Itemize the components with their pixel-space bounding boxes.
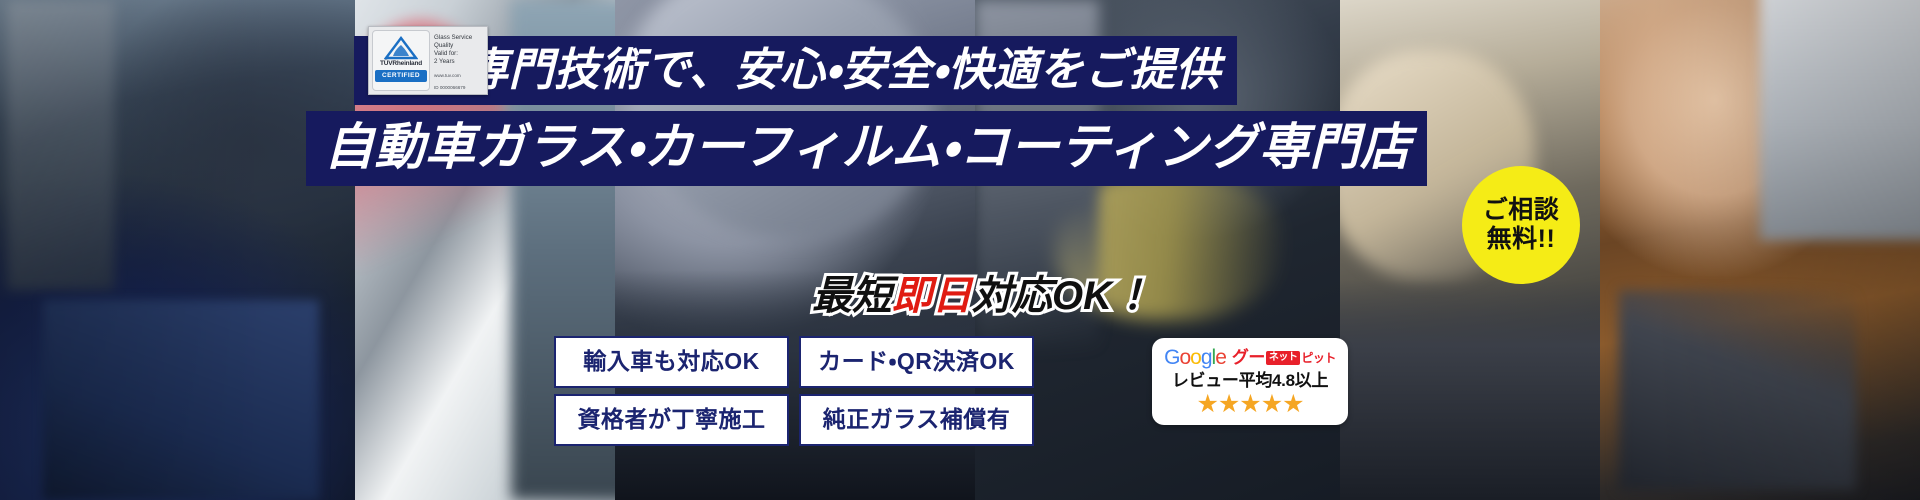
- tuv-certified-label: CERTIFIED: [375, 70, 427, 82]
- tuv-id: ID 0000066679: [434, 85, 484, 91]
- hero-banner: 高い専門技術で、安心・安全・快適をご提供 自動車ガラス・カーフィルム・コーティン…: [0, 0, 1920, 500]
- feature-badge-certified-staff[interactable]: 資格者が丁寧施工: [554, 394, 789, 446]
- tuv-valid-label: Valid for:: [434, 50, 484, 58]
- goonet-goo-text: グー: [1232, 349, 1265, 366]
- same-day-service-text: 最短即日対応OK！: [812, 276, 1152, 316]
- tuv-logo-block: TÜVRheinland CERTIFIED: [372, 30, 430, 91]
- consult-line-1: ご相談: [1483, 196, 1560, 225]
- tuv-triangle-icon: [384, 36, 418, 60]
- goonet-pit-text: ピット: [1301, 352, 1336, 364]
- headline-row-1: 高い専門技術で、安心・安全・快適をご提供: [0, 36, 1920, 105]
- same-day-emphasis: 即日: [892, 274, 972, 318]
- goonet-pit-logo: グー ネット ピット: [1232, 349, 1336, 366]
- headline-row-2: 自動車ガラス・カーフィルム・コーティング専門店: [0, 111, 1920, 186]
- tuv-brand-name: TÜVRheinland: [375, 61, 427, 68]
- feature-badge-oem-glass[interactable]: 純正ガラス補償有: [799, 394, 1034, 446]
- tuv-service-line: Glass Service: [434, 34, 484, 42]
- feature-badge-payment[interactable]: カード・QR決済OK: [799, 336, 1034, 388]
- google-review-card[interactable]: Google グー ネット ピット レビュー平均4.8以上 ★★★★★: [1152, 338, 1348, 425]
- feature-badge-import-cars[interactable]: 輸入車も対応OK: [554, 336, 789, 388]
- tuv-quality-line: Quality: [434, 42, 484, 50]
- google-logo: Google: [1164, 347, 1226, 368]
- tuv-url: www.tuv.com: [434, 73, 484, 79]
- headline-block: 高い専門技術で、安心・安全・快適をご提供 自動車ガラス・カーフィルム・コーティン…: [0, 36, 1920, 186]
- same-day-prefix: 最短: [812, 274, 892, 318]
- same-day-suffix: 対応OK！: [972, 274, 1152, 318]
- consult-line-2: 無料!!: [1487, 225, 1556, 254]
- tuv-valid-value: 2 Years: [434, 58, 484, 66]
- headline-line-2: 自動車ガラス・カーフィルム・コーティング専門店: [306, 111, 1427, 186]
- feature-badge-grid: 輸入車も対応OK カード・QR決済OK 資格者が丁寧施工 純正ガラス補償有: [554, 336, 1034, 446]
- google-review-logos: Google グー ネット ピット: [1160, 347, 1340, 368]
- tuv-details: Glass Service Quality Valid for: 2 Years…: [430, 30, 484, 91]
- google-review-average: レビュー平均4.8以上: [1160, 372, 1340, 391]
- tuv-certification-badge: TÜVRheinland CERTIFIED Glass Service Qua…: [368, 26, 488, 95]
- free-consultation-badge: ご相談 無料!!: [1462, 166, 1580, 284]
- star-rating-icon: ★★★★★: [1160, 392, 1340, 417]
- goonet-net-text: ネット: [1266, 351, 1301, 365]
